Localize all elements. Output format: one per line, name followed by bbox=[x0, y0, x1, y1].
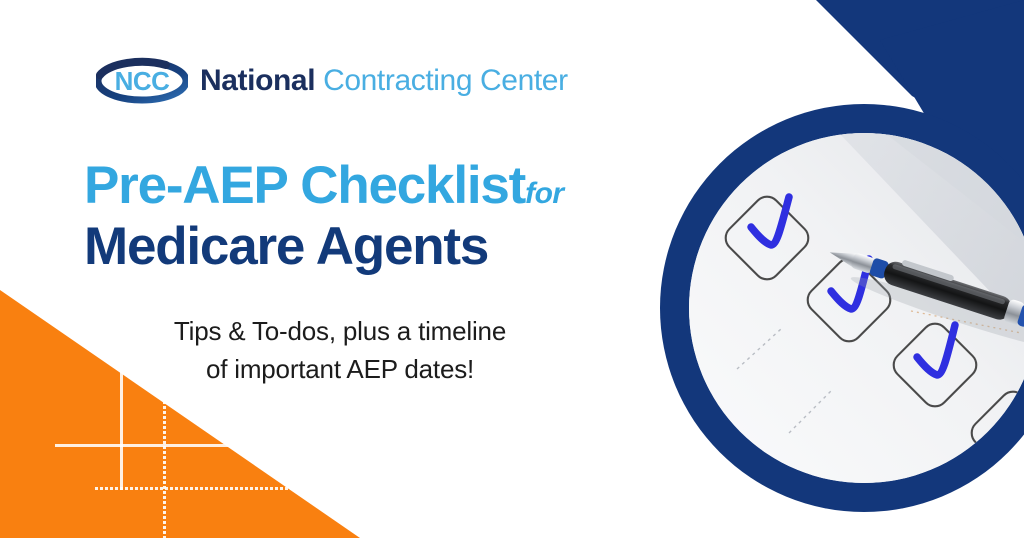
wordmark-light: Contracting Center bbox=[315, 64, 568, 97]
wordmark-bold: National bbox=[200, 64, 315, 97]
headline-line-2: Medicare Agents bbox=[84, 219, 684, 274]
brand-logo[interactable]: NCC National Contracting Center bbox=[96, 57, 568, 105]
subheadline-block: Tips & To-dos, plus a timeline of import… bbox=[60, 313, 620, 388]
checklist-photo bbox=[689, 133, 1024, 483]
brand-wordmark: National Contracting Center bbox=[200, 66, 568, 96]
checklist-photo-circle bbox=[660, 104, 1024, 512]
headline-block: Pre-AEP Checklistfor Medicare Agents bbox=[84, 158, 684, 274]
subheadline-line-2: of important AEP dates! bbox=[60, 351, 620, 389]
marketing-banner: NCC National Contracting Center Pre-AEP … bbox=[0, 0, 1024, 538]
headline-line-1-text: Pre-AEP Checklist bbox=[84, 156, 525, 215]
subheadline-line-1: Tips & To-dos, plus a timeline bbox=[60, 313, 620, 351]
headline-line-1: Pre-AEP Checklistfor bbox=[84, 158, 684, 213]
headline-for-word: for bbox=[525, 177, 564, 210]
ncc-logo-icon: NCC bbox=[96, 57, 188, 105]
svg-text:NCC: NCC bbox=[115, 66, 171, 96]
